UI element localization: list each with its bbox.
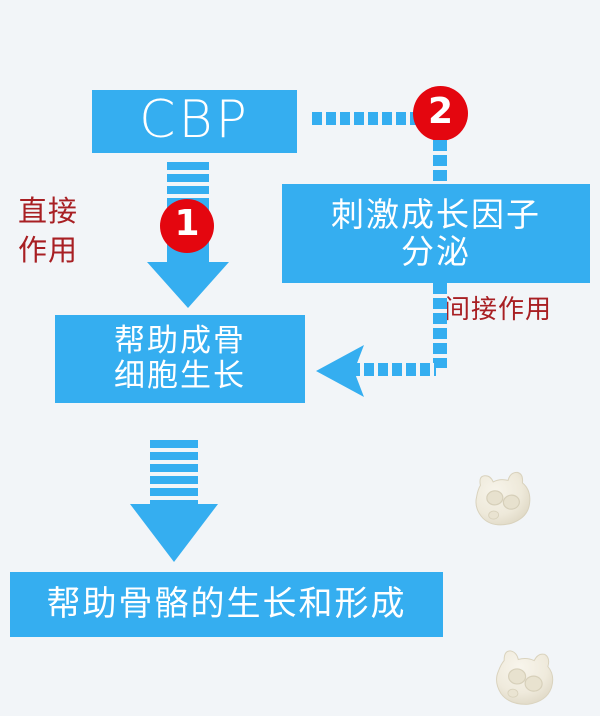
box-osteoblast-label: 帮助成骨 细胞生长 [114,324,246,393]
connector-cbp-to-step2 [312,112,422,125]
badge-step-2: 2 [413,86,468,141]
box-cbp-label: CBP [139,94,250,146]
badge-step-1-label: 1 [174,206,199,242]
box-growth-factor: 刺激成长因子 分泌 [282,184,590,283]
badge-step-1: 1 [160,199,214,253]
label-direct-effect: 直接 作用 [18,192,78,270]
bear-tablet-icon [469,467,537,531]
arrow-osteoblast-to-bone [150,440,198,565]
box-cbp: CBP [92,90,297,153]
bear-tablet-icon [490,646,560,710]
connector-growth-to-osteoblast-vertical [433,283,447,368]
box-bone-formation: 帮助骨骼的生长和形成 [10,572,443,637]
arrow-head [147,262,229,308]
diagram-canvas: CBP 2 刺激成长因子 分泌 直接 作用 1 间接作用 帮助成骨 细胞生长 [0,0,600,716]
arrow-head-left-icon [316,345,364,397]
badge-step-2-label: 2 [428,94,453,130]
arrow-shaft-stripes [150,440,198,500]
box-osteoblast: 帮助成骨 细胞生长 [55,315,305,403]
box-growth-factor-label: 刺激成长因子 分泌 [331,197,541,271]
connector-step2-to-growth [433,140,447,187]
arrow-head [130,504,218,562]
box-bone-formation-label: 帮助骨骼的生长和形成 [47,585,407,623]
arrow-shaft-stripes [167,162,209,202]
label-indirect-effect: 间接作用 [444,293,552,328]
